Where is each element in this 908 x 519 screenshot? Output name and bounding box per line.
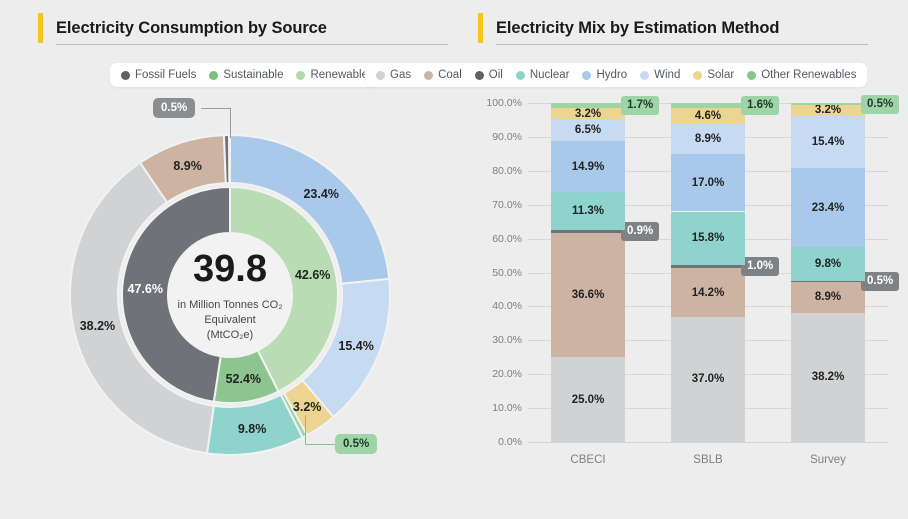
bar-value-label: 17.0% — [692, 177, 725, 189]
x-axis-label-survey: Survey — [810, 454, 846, 466]
bar-value-label: 11.3% — [572, 205, 604, 217]
bar-segment-hydro[interactable]: 14.9% — [551, 141, 625, 192]
callout-leader-line — [305, 415, 306, 445]
bar-value-badge: 1.7% — [621, 96, 659, 115]
bar-value-badge: 0.9% — [621, 222, 659, 241]
legend-dot-icon — [693, 71, 702, 80]
stacked-bar-chart[interactable]: 0.0%10.0%20.0%30.0%40.0%50.0%60.0%70.0%8… — [466, 95, 898, 470]
legend-dot-icon — [209, 71, 218, 80]
bar-value-label: 14.2% — [692, 287, 725, 299]
bar-value-label: 8.9% — [815, 291, 841, 303]
bar-value-label: 6.5% — [575, 124, 601, 136]
donut-chart[interactable]: 23.4%15.4%3.2%9.8%38.2%8.9%42.6%52.4%47.… — [25, 95, 435, 495]
y-axis-tick: 40.0% — [466, 300, 522, 312]
donut-center-subtitle: (MtCO₂e) — [207, 328, 253, 343]
donut-center-subtitle: in Million Tonnes CO₂ — [178, 298, 283, 313]
source-legend[interactable]: GasCoalOilNuclearHydroWindSolarOther Ren… — [365, 63, 867, 87]
bar-segment-coal[interactable]: 36.6% — [551, 233, 625, 357]
bar-value-label: 15.8% — [692, 232, 725, 244]
legend-label: Sustainable — [223, 69, 283, 81]
legend-item-gas[interactable]: Gas — [376, 69, 411, 81]
donut-outer-oil[interactable] — [224, 135, 229, 183]
bar-segment-hydro[interactable]: 17.0% — [671, 154, 745, 212]
bar-value-badge: 1.6% — [741, 96, 779, 115]
y-axis-tick: 60.0% — [466, 233, 522, 245]
legend-label: Coal — [438, 69, 462, 81]
bar-segment-gas[interactable]: 38.2% — [791, 313, 865, 442]
bar-value-label: 3.2% — [575, 108, 601, 120]
bar-segment-solar[interactable]: 3.2% — [551, 108, 625, 119]
donut-center-value: 39.8 — [193, 250, 267, 288]
legend-label: Hydro — [596, 69, 627, 81]
legend-label: Gas — [390, 69, 411, 81]
legend-label: Wind — [654, 69, 680, 81]
legend-label: Other Renewables — [761, 69, 856, 81]
bar-column-sblb[interactable]: 37.0%14.2%1.0%15.8%17.0%8.9%4.6%1.6% — [671, 103, 745, 442]
legend-dot-icon — [376, 71, 385, 80]
legend-item-coal[interactable]: Coal — [424, 69, 462, 81]
bar-segment-other-renewables[interactable]: 0.5% — [791, 103, 865, 105]
legend-item-hydro[interactable]: Hydro — [582, 69, 627, 81]
y-axis-tick: 30.0% — [466, 334, 522, 346]
x-axis-label-cbeci: CBECI — [570, 454, 605, 466]
bar-segment-oil[interactable]: 1.0% — [671, 265, 745, 268]
right-page-title: Electricity Mix by Estimation Method — [496, 19, 779, 38]
legend-item-sustainable[interactable]: Sustainable — [209, 69, 283, 81]
title-divider — [56, 44, 448, 45]
bar-segment-oil[interactable]: 0.5% — [791, 281, 865, 283]
callout-other-renewables[interactable]: 0.5% — [335, 434, 377, 454]
bar-value-label: 38.2% — [812, 371, 845, 383]
y-axis-tick: 20.0% — [466, 368, 522, 380]
bar-segment-other-renewables[interactable]: 1.6% — [671, 103, 745, 108]
y-axis-tick: 10.0% — [466, 402, 522, 414]
bar-segment-wind[interactable]: 8.9% — [671, 124, 745, 154]
bar-segment-other-renewables[interactable]: 1.7% — [551, 103, 625, 109]
legend-dot-icon — [582, 71, 591, 80]
gridline — [528, 442, 888, 443]
legend-item-wind[interactable]: Wind — [640, 69, 680, 81]
category-legend[interactable]: Fossil FuelsSustainableRenewable — [110, 63, 379, 87]
callout-leader-line — [201, 108, 231, 109]
legend-item-renewable[interactable]: Renewable — [296, 69, 368, 81]
bar-value-label: 23.4% — [812, 202, 845, 214]
bar-segment-coal[interactable]: 14.2% — [671, 268, 745, 316]
legend-item-solar[interactable]: Solar — [693, 69, 734, 81]
bar-value-label: 3.2% — [815, 104, 841, 116]
bar-segment-gas[interactable]: 37.0% — [671, 317, 745, 442]
legend-label: Oil — [489, 69, 503, 81]
bar-column-survey[interactable]: 38.2%8.9%0.5%9.8%23.4%15.4%3.2%0.5% — [791, 103, 865, 442]
legend-dot-icon — [121, 71, 130, 80]
legend-label: Solar — [707, 69, 734, 81]
bar-value-label: 25.0% — [572, 394, 605, 406]
bar-segment-oil[interactable]: 0.9% — [551, 230, 625, 233]
bar-segment-nuclear[interactable]: 11.3% — [551, 192, 625, 230]
accent-bar-icon — [478, 13, 483, 43]
accent-bar-icon — [38, 13, 43, 43]
bar-value-badge: 0.5% — [861, 95, 899, 114]
bar-value-label: 15.4% — [812, 136, 845, 148]
bar-column-cbeci[interactable]: 25.0%36.6%0.9%11.3%14.9%6.5%3.2%1.7% — [551, 103, 625, 442]
bar-value-badge: 1.0% — [741, 257, 779, 276]
bar-value-label: 4.6% — [695, 110, 721, 122]
y-axis-tick: 90.0% — [466, 131, 522, 143]
bar-segment-solar[interactable]: 4.6% — [671, 108, 745, 124]
legend-label: Nuclear — [530, 69, 570, 81]
y-axis-tick: 70.0% — [466, 199, 522, 211]
bar-value-label: 9.8% — [815, 258, 841, 270]
x-axis-label-sblb: SBLB — [693, 454, 722, 466]
bar-segment-solar[interactable]: 3.2% — [791, 105, 865, 116]
bar-segment-nuclear[interactable]: 9.8% — [791, 247, 865, 280]
bar-value-label: 36.6% — [572, 289, 605, 301]
bar-segment-nuclear[interactable]: 15.8% — [671, 212, 745, 266]
bar-segment-gas[interactable]: 25.0% — [551, 357, 625, 442]
bar-segment-wind[interactable]: 6.5% — [551, 119, 625, 141]
title-divider — [496, 44, 868, 45]
legend-dot-icon — [296, 71, 305, 80]
legend-dot-icon — [475, 71, 484, 80]
callout-leader-line — [230, 108, 231, 138]
legend-item-oil[interactable]: Oil — [475, 69, 503, 81]
legend-item-nuclear[interactable]: Nuclear — [516, 69, 570, 81]
legend-dot-icon — [640, 71, 649, 80]
y-axis-tick: 80.0% — [466, 165, 522, 177]
bar-segment-wind[interactable]: 15.4% — [791, 116, 865, 168]
bar-value-label: 14.9% — [572, 161, 605, 173]
left-panel-header: Electricity Consumption by Source — [38, 13, 448, 43]
bar-value-badge: 0.5% — [861, 272, 899, 291]
legend-item-other-renewables[interactable]: Other Renewables — [747, 69, 856, 81]
bar-value-label: 37.0% — [692, 373, 725, 385]
y-axis-tick: 100.0% — [466, 97, 522, 109]
callout-oil[interactable]: 0.5% — [153, 98, 195, 118]
y-axis-tick: 50.0% — [466, 267, 522, 279]
right-panel-header: Electricity Mix by Estimation Method — [478, 13, 868, 43]
legend-item-fossil-fuels[interactable]: Fossil Fuels — [121, 69, 196, 81]
legend-dot-icon — [424, 71, 433, 80]
callout-leader-line — [305, 444, 335, 445]
page-title: Electricity Consumption by Source — [56, 19, 327, 38]
legend-dot-icon — [516, 71, 525, 80]
legend-label: Fossil Fuels — [135, 69, 196, 81]
donut-center-subtitle: Equivalent — [204, 313, 255, 328]
y-axis-tick: 0.0% — [466, 436, 522, 448]
bar-segment-coal[interactable]: 8.9% — [791, 282, 865, 312]
legend-label: Renewable — [310, 69, 368, 81]
bar-value-label: 8.9% — [695, 133, 721, 145]
bar-segment-hydro[interactable]: 23.4% — [791, 168, 865, 247]
legend-dot-icon — [747, 71, 756, 80]
